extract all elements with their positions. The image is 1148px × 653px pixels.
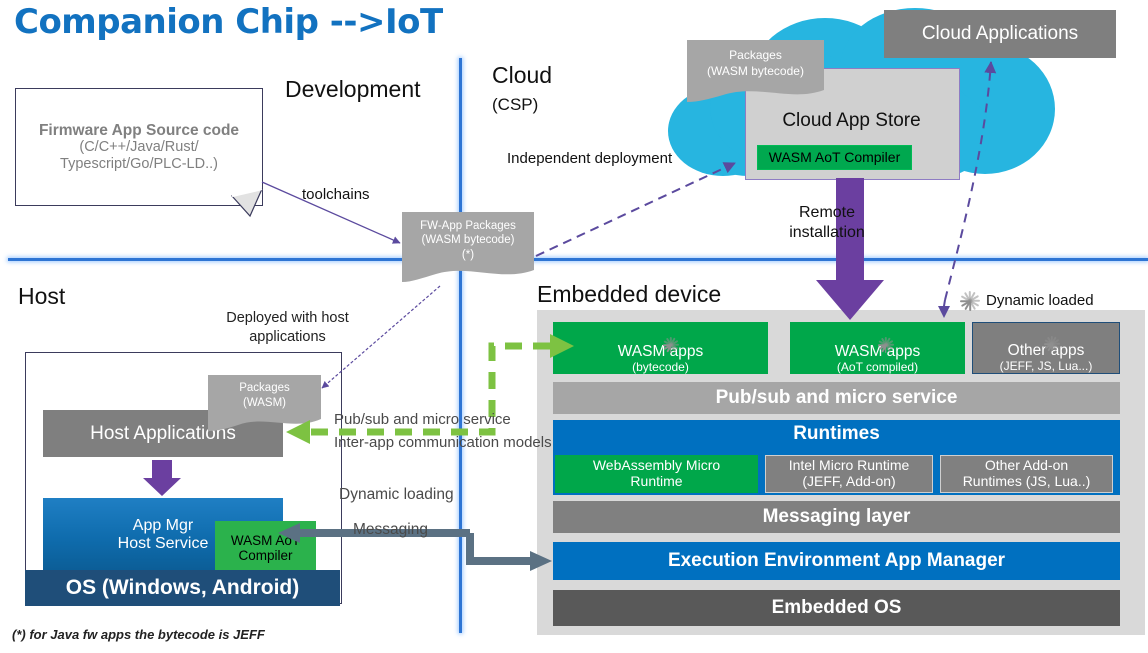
label-messaging: Messaging [353,521,428,539]
horizontal-divider [8,258,1148,261]
section-heading-host: Host [18,283,65,310]
label-inter-app-comm: Inter-app communication models [334,434,552,451]
label-deployed-with-host-l1: Deployed with host [200,309,375,328]
firmware-source-line3: Typescript/Go/PLC-LD..) [60,156,218,172]
label-deployed-with-host-l2: applications [200,328,375,347]
spinner-icon [1039,334,1065,353]
spinner-icon [873,334,899,355]
execution-env-app-manager: Execution Environment App Manager [553,542,1120,580]
embedded-app-2-sub: (JEFF, JS, Lua...) [1000,360,1093,373]
cloud-packages-line1: Packages [687,48,824,64]
label-toolchains: toolchains [302,186,370,203]
section-heading-development: Development [285,76,421,103]
runtime-0: WebAssembly Micro Runtime [555,455,758,493]
label-remote-installation: Remote installation [772,203,882,243]
messaging-layer: Messaging layer [553,501,1120,533]
host-packages-line2: (WASM) [208,396,321,411]
embedded-app-0-sub: (bytecode) [632,361,689,374]
firmware-source-title: Firmware App Source code [39,122,239,139]
section-heading-embedded: Embedded device [537,281,721,308]
firmware-source-line2: (C/C++/Java/Rust/ [79,139,198,155]
host-aot-line2: Compiler [238,548,292,563]
label-deployed-with-host: Deployed with host applications [200,309,375,347]
runtimes-title: Runtimes [553,423,1120,445]
runtime-0-line2: Runtime [630,474,682,490]
vertical-divider [459,58,462,633]
label-independent-deployment: Independent deployment [507,150,672,167]
firmware-source-box: Firmware App Source code (C/C++/Java/Rus… [15,88,263,206]
cloud-packages-callout: Packages (WASM bytecode) [687,40,824,102]
dynamic-loaded-spinner-icon [957,288,983,314]
footnote: (*) for Java fw apps the bytecode is JEF… [12,627,265,642]
embedded-app-0: WASM apps (bytecode) [553,322,768,374]
runtime-1: Intel Micro Runtime (JEFF, Add-on) [765,455,933,493]
label-pubsub-micro-service: Pub/sub and micro service [334,411,511,428]
dynamic-loaded-label: Dynamic loaded [986,292,1094,309]
runtime-2-line1: Other Add-on [985,458,1068,474]
label-dynamic-loading: Dynamic loading [339,486,454,504]
spinner-icon [658,334,684,355]
wasm-aot-compiler-host: WASM AoT Compiler [215,521,316,575]
host-aot-line1: WASM AoT [231,533,300,548]
host-packages-line1: Packages [208,381,321,396]
app-mgr-line2: Host Service [118,535,209,553]
runtime-1-line2: (JEFF, Add-on) [802,474,895,490]
host-packages-callout: Packages (WASM) [208,375,321,431]
embedded-app-2: Other apps (JEFF, JS, Lua...) [972,322,1120,374]
page-title: Companion Chip -->IoT [14,2,443,42]
runtime-1-line1: Intel Micro Runtime [789,458,910,474]
section-heading-cloud-sub: (CSP) [492,95,538,115]
fw-app-packages-line1: FW-App Packages [402,219,534,233]
runtime-2: Other Add-on Runtimes (JS, Lua..) [940,455,1113,493]
wasm-aot-compiler-cloud: WASM AoT Compiler [757,145,912,170]
label-remote-installation-l2: installation [772,223,882,243]
cloud-applications-box: Cloud Applications [884,10,1116,58]
host-os-box: OS (Windows, Android) [25,570,340,606]
fw-app-packages-callout: FW-App Packages (WASM bytecode) (*) [402,212,534,282]
fw-app-packages-line3: (*) [402,248,534,262]
cloud-app-store-label: Cloud App Store [745,110,958,132]
label-remote-installation-l1: Remote [772,203,882,223]
embedded-os: Embedded OS [553,590,1120,626]
diagram-canvas: Companion Chip -->IoT Development Cloud … [0,0,1148,653]
section-heading-cloud: Cloud [492,62,552,89]
embedded-app-1: WASM apps (AoT compiled) [790,322,965,374]
fw-app-packages-line2: (WASM bytecode) [402,233,534,247]
cloud-packages-line2: (WASM bytecode) [687,64,824,80]
runtime-0-line1: WebAssembly Micro [593,458,720,474]
runtime-2-line2: Runtimes (JS, Lua..) [963,474,1091,490]
app-mgr-line1: App Mgr [133,517,193,535]
embedded-app-1-sub: (AoT compiled) [837,361,918,374]
pubsub-layer: Pub/sub and micro service [553,382,1120,414]
